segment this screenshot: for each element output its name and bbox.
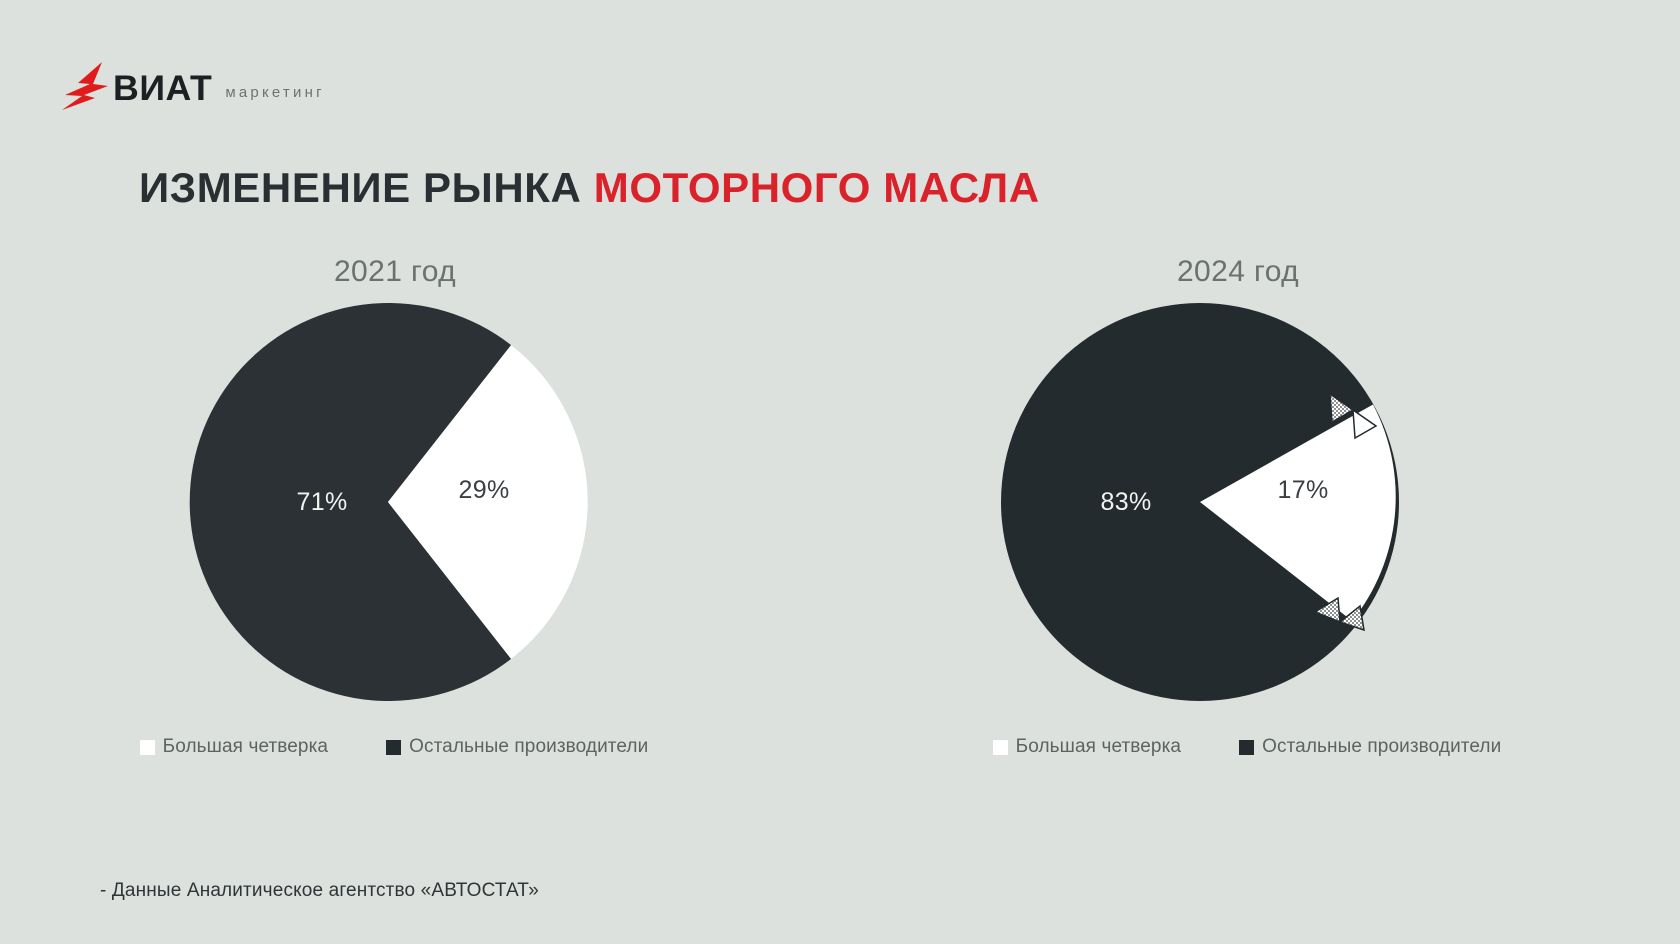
legend-swatch-white-icon [993,740,1008,755]
chart-panel-2024: 2024 год [880,250,1500,810]
legend-item-others-2024[interactable]: Остальные производители [1239,736,1501,758]
source-note: - Данные Аналитическое агентство «АВТОСТ… [100,880,539,902]
pie-value-label-big-four-2024: 17% [1278,476,1329,504]
slide-canvas: ВИАТ маркетинг ИЗМЕНЕНИЕ РЫНКА МОТОРНОГО… [0,0,1680,944]
page-title-part-1: ИЗМЕНЕНИЕ РЫНКА [139,164,594,211]
pie-chart-2024: 83% 17% [1000,302,1400,702]
pie-value-label-big-four-2021: 29% [459,476,510,504]
pie-value-label-others-2024: 83% [1101,488,1152,516]
page-title-part-2: МОТОРНОГО МАСЛА [594,164,1040,211]
pie-wrap-2024: 83% 17% [880,302,1500,722]
page-title: ИЗМЕНЕНИЕ РЫНКА МОТОРНОГО МАСЛА [139,164,1040,211]
legend-swatch-dark-icon [1239,740,1254,755]
chart-title-2021: 2021 год [80,250,700,294]
chart-legend-2021: Большая четверка Остальные производители [80,736,700,758]
legend-label-others: Остальные производители [1262,736,1501,758]
legend-item-big-four-2021[interactable]: Большая четверка [140,736,328,758]
legend-label-big-four: Большая четверка [163,736,328,758]
legend-item-big-four-2024[interactable]: Большая четверка [993,736,1181,758]
legend-label-others: Остальные производители [409,736,648,758]
brand-tagline: маркетинг [225,85,324,100]
legend-item-others-2021[interactable]: Остальные производители [386,736,648,758]
chart-panel-2021: 2021 год 71% 29% Большая четверка Осталь… [80,250,700,810]
pie-wrap-2021: 71% 29% [80,302,700,722]
legend-swatch-dark-icon [386,740,401,755]
chart-legend-2024: Большая четверка Остальные производители [880,736,1500,758]
pie-chart-2021: 71% 29% [188,302,588,702]
brand-logo: ВИАТ маркетинг [62,62,325,114]
red-arrow-logo-icon [62,62,120,114]
legend-swatch-white-icon [140,740,155,755]
legend-label-big-four: Большая четверка [1016,736,1181,758]
brand-wordmark: ВИАТ [113,71,212,106]
chart-title-2024: 2024 год [880,250,1500,294]
pie-value-label-others-2021: 71% [297,488,348,516]
